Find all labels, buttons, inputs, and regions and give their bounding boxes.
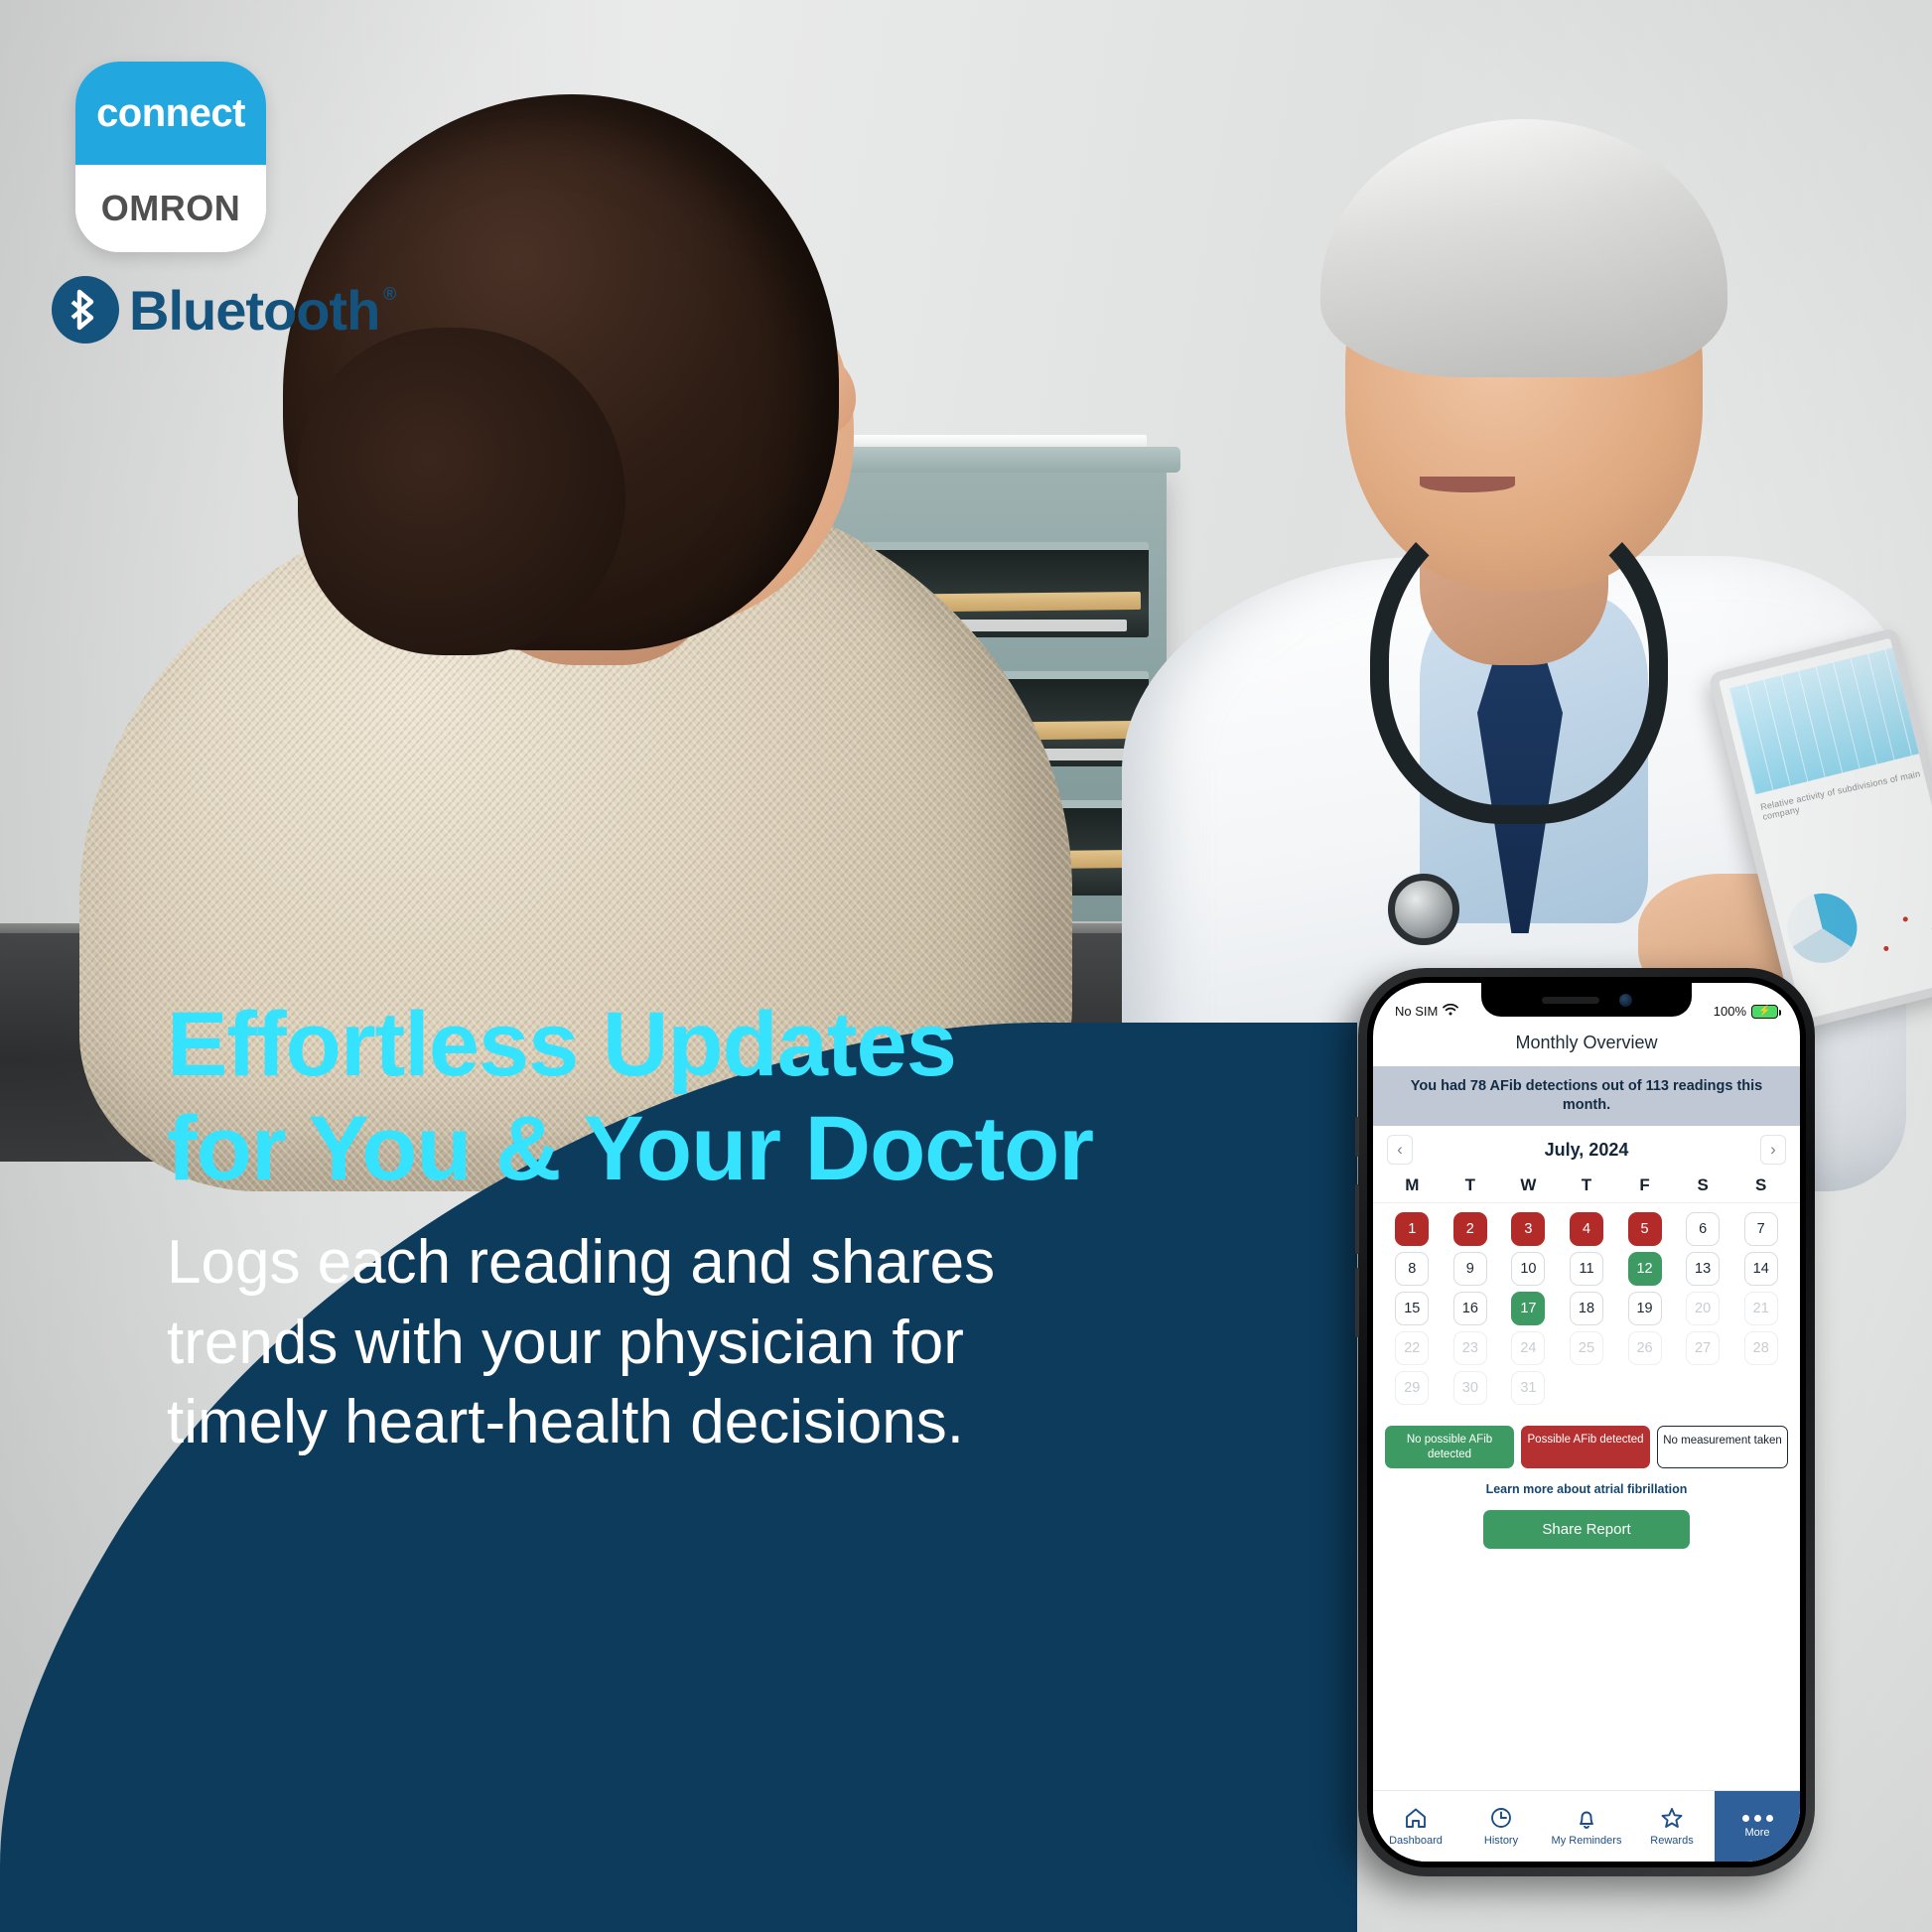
month-navigation: ‹ July, 2024 › — [1373, 1126, 1800, 1173]
next-month-button[interactable]: › — [1760, 1135, 1786, 1165]
calendar-day-15[interactable]: 15 — [1395, 1292, 1429, 1325]
tab-label: Rewards — [1650, 1835, 1693, 1847]
phone-bezel: No SIM 100% ⚡ Monthly Overview You had — [1367, 977, 1806, 1867]
calendar-day-12[interactable]: 12 — [1628, 1252, 1662, 1286]
calendar-day-9[interactable]: 9 — [1453, 1252, 1487, 1286]
current-month-label: July, 2024 — [1545, 1140, 1629, 1161]
ellipsis-icon — [1742, 1815, 1773, 1822]
stethoscope-chestpiece — [1388, 874, 1459, 945]
calendar-day-20[interactable]: 20 — [1686, 1292, 1720, 1325]
calendar-day-16[interactable]: 16 — [1453, 1292, 1487, 1325]
weekday-header-row: MTWTFSS — [1373, 1173, 1800, 1203]
legend-chip-1: Possible AFib detected — [1521, 1426, 1650, 1468]
calendar-legend: No possible AFib detectedPossible AFib d… — [1373, 1410, 1800, 1468]
status-bar-left: No SIM — [1395, 1004, 1458, 1019]
weekday-label-2: W — [1499, 1175, 1558, 1195]
calendar-day-10[interactable]: 10 — [1511, 1252, 1545, 1286]
calendar-day-17[interactable]: 17 — [1511, 1292, 1545, 1325]
calendar-day-18[interactable]: 18 — [1570, 1292, 1603, 1325]
stethoscope-tubing — [1370, 496, 1668, 824]
star-icon — [1660, 1806, 1684, 1830]
calendar-day-empty — [1628, 1371, 1662, 1405]
bluetooth-logo: Bluetooth® — [52, 276, 379, 344]
calendar-grid: 1234567891011121314151617181920212223242… — [1373, 1203, 1800, 1410]
calendar-day-8[interactable]: 8 — [1395, 1252, 1429, 1286]
tab-label: My Reminders — [1552, 1835, 1622, 1847]
calendar-day-23[interactable]: 23 — [1453, 1331, 1487, 1365]
tab-label: More — [1744, 1827, 1769, 1839]
wifi-icon — [1443, 1004, 1458, 1019]
phone-screen: No SIM 100% ⚡ Monthly Overview You had — [1373, 983, 1800, 1862]
tablet-scatter-point — [1883, 945, 1889, 951]
calendar-day-21[interactable]: 21 — [1744, 1292, 1778, 1325]
body-line-1: Logs each reading and shares — [167, 1223, 1279, 1304]
weekday-label-5: S — [1674, 1175, 1732, 1195]
calendar-day-7[interactable]: 7 — [1744, 1212, 1778, 1246]
calendar-day-14[interactable]: 14 — [1744, 1252, 1778, 1286]
tablet-scatter-point — [1902, 916, 1908, 922]
tab-rewards[interactable]: Rewards — [1629, 1791, 1715, 1862]
headline-line-2: for You & Your Doctor — [167, 1097, 1309, 1201]
calendar-day-22[interactable]: 22 — [1395, 1331, 1429, 1365]
body-line-3: timely heart-health decisions. — [167, 1383, 1279, 1463]
phone-volume-up-button[interactable] — [1355, 1184, 1359, 1254]
legend-chip-0: No possible AFib detected — [1385, 1426, 1514, 1468]
calendar-day-29[interactable]: 29 — [1395, 1371, 1429, 1405]
promo-headline: Effortless Updates for You & Your Doctor — [167, 993, 1309, 1201]
calendar-day-4[interactable]: 4 — [1570, 1212, 1603, 1246]
tab-more[interactable]: More — [1715, 1791, 1800, 1862]
status-bar-right: 100% ⚡ — [1714, 1004, 1778, 1019]
calendar-day-empty — [1744, 1371, 1778, 1405]
weekday-label-0: M — [1383, 1175, 1442, 1195]
phone-mute-switch[interactable] — [1355, 1117, 1359, 1157]
doctor-mouth — [1420, 477, 1515, 492]
calendar-day-empty — [1570, 1371, 1603, 1405]
tab-dashboard[interactable]: Dashboard — [1373, 1791, 1458, 1862]
calendar-day-24[interactable]: 24 — [1511, 1331, 1545, 1365]
weekday-label-4: F — [1615, 1175, 1674, 1195]
prev-month-button[interactable]: ‹ — [1387, 1135, 1413, 1165]
page-title: Monthly Overview — [1373, 1023, 1800, 1066]
calendar-day-19[interactable]: 19 — [1628, 1292, 1662, 1325]
calendar-day-3[interactable]: 3 — [1511, 1212, 1545, 1246]
calendar-day-1[interactable]: 1 — [1395, 1212, 1429, 1246]
tablet-pie-chart — [1780, 886, 1864, 970]
weekday-label-1: T — [1442, 1175, 1500, 1195]
clock-icon — [1489, 1806, 1513, 1830]
home-icon — [1404, 1806, 1428, 1830]
calendar-day-2[interactable]: 2 — [1453, 1212, 1487, 1246]
share-report-button[interactable]: Share Report — [1483, 1510, 1690, 1549]
earpiece-speaker-icon — [1542, 997, 1599, 1004]
bluetooth-icon — [52, 276, 119, 344]
calendar-day-28[interactable]: 28 — [1744, 1331, 1778, 1365]
bell-icon — [1575, 1806, 1598, 1830]
battery-charging-icon: ⚡ — [1751, 1005, 1778, 1019]
tab-history[interactable]: History — [1458, 1791, 1544, 1862]
learn-more-link[interactable]: Learn more about atrial fibrillation — [1373, 1468, 1800, 1496]
phone-mockup: No SIM 100% ⚡ Monthly Overview You had — [1358, 968, 1815, 1876]
app-icon-omron-label: OMRON — [75, 165, 266, 252]
phone-notch — [1481, 983, 1692, 1017]
tablet-chart-grid — [1728, 646, 1924, 794]
afib-summary-banner: You had 78 AFib detections out of 113 re… — [1373, 1066, 1800, 1126]
calendar-day-empty — [1686, 1371, 1720, 1405]
legend-chip-2: No measurement taken — [1657, 1426, 1788, 1468]
tablet-area-chart — [1728, 646, 1924, 794]
calendar-day-11[interactable]: 11 — [1570, 1252, 1603, 1286]
weekday-label-3: T — [1558, 1175, 1616, 1195]
omron-connect-app-icon: connect OMRON — [75, 62, 266, 252]
calendar-day-6[interactable]: 6 — [1686, 1212, 1720, 1246]
calendar-day-26[interactable]: 26 — [1628, 1331, 1662, 1365]
tab-label: History — [1484, 1835, 1518, 1847]
calendar-day-5[interactable]: 5 — [1628, 1212, 1662, 1246]
body-line-2: trends with your physician for — [167, 1304, 1279, 1384]
tab-label: Dashboard — [1389, 1835, 1443, 1847]
bluetooth-wordmark: Bluetooth® — [129, 278, 379, 343]
calendar-day-30[interactable]: 30 — [1453, 1371, 1487, 1405]
battery-percent-label: 100% — [1714, 1004, 1746, 1019]
app-icon-connect-label: connect — [75, 62, 266, 165]
registered-trademark-icon: ® — [383, 284, 395, 305]
calendar-day-31[interactable]: 31 — [1511, 1371, 1545, 1405]
promo-body-copy: Logs each reading and shares trends with… — [167, 1223, 1279, 1463]
headline-line-1: Effortless Updates — [167, 993, 1309, 1097]
phone-volume-down-button[interactable] — [1355, 1268, 1359, 1337]
calendar-day-25[interactable]: 25 — [1570, 1331, 1603, 1365]
tab-my-reminders[interactable]: My Reminders — [1544, 1791, 1629, 1862]
bluetooth-word-text: Bluetooth — [129, 279, 379, 342]
weekday-label-6: S — [1731, 1175, 1790, 1195]
calendar-day-27[interactable]: 27 — [1686, 1331, 1720, 1365]
bottom-tab-bar: DashboardHistoryMy RemindersRewardsMore — [1373, 1790, 1800, 1862]
carrier-label: No SIM — [1395, 1004, 1438, 1019]
front-camera-icon — [1619, 994, 1632, 1007]
calendar-day-13[interactable]: 13 — [1686, 1252, 1720, 1286]
